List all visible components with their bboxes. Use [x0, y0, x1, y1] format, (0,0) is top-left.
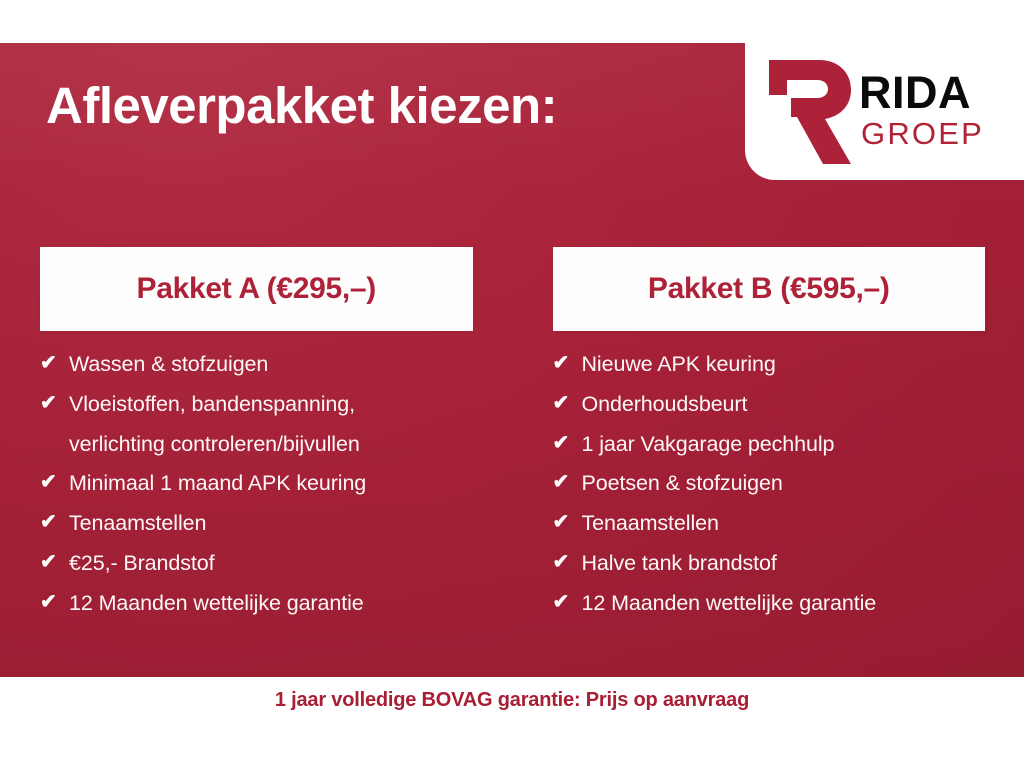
check-icon: ✔ — [553, 504, 582, 541]
list-item-line: €25,- Brandstof — [69, 544, 473, 584]
list-item-label: Minimaal 1 maand APK keuring — [69, 464, 473, 504]
check-icon: ✔ — [40, 385, 69, 422]
list-item-label: Halve tank brandstof — [582, 544, 986, 584]
list-item-label: €25,- Brandstof — [69, 544, 473, 584]
list-item-line: 12 Maanden wettelijke garantie — [69, 584, 473, 624]
red-stage-background: Afleverpakket kiezen: RIDA GROEP Pakket … — [0, 43, 1024, 677]
list-item-line: Vloeistoffen, bandenspanning, — [69, 385, 473, 425]
list-item-line: Poetsen & stofzuigen — [582, 464, 986, 504]
list-item-label: Wassen & stofzuigen — [69, 345, 473, 385]
list-item-line: Tenaamstellen — [582, 504, 986, 544]
list-item: ✔Vloeistoffen, bandenspanning,verlichtin… — [40, 385, 473, 465]
list-item-label: 1 jaar Vakgarage pechhulp — [582, 425, 986, 465]
list-item: ✔12 Maanden wettelijke garantie — [40, 584, 473, 624]
check-icon: ✔ — [553, 425, 582, 462]
package-a-header: Pakket A (€295,–) — [40, 247, 473, 331]
list-item-label: 12 Maanden wettelijke garantie — [582, 584, 986, 624]
list-item-line: Halve tank brandstof — [582, 544, 986, 584]
check-icon: ✔ — [553, 464, 582, 501]
rida-r-monogram-icon — [761, 60, 853, 164]
brand-wordmark: RIDA GROEP — [859, 70, 984, 153]
list-item-label: Poetsen & stofzuigen — [582, 464, 986, 504]
list-item: ✔Wassen & stofzuigen — [40, 345, 473, 385]
package-card-a[interactable]: Pakket A (€295,–) ✔Wassen & stofzuigen✔V… — [40, 247, 473, 623]
list-item: ✔Onderhoudsbeurt — [553, 385, 986, 425]
check-icon: ✔ — [40, 345, 69, 382]
list-item-line: Minimaal 1 maand APK keuring — [69, 464, 473, 504]
check-icon: ✔ — [553, 345, 582, 382]
check-icon: ✔ — [40, 544, 69, 581]
package-b-header: Pakket B (€595,–) — [553, 247, 986, 331]
package-b-feature-list: ✔Nieuwe APK keuring✔Onderhoudsbeurt✔1 ja… — [553, 345, 986, 623]
list-item-line: Wassen & stofzuigen — [69, 345, 473, 385]
check-icon: ✔ — [553, 544, 582, 581]
list-item: ✔Minimaal 1 maand APK keuring — [40, 464, 473, 504]
list-item-line: Nieuwe APK keuring — [582, 345, 986, 385]
check-icon: ✔ — [40, 504, 69, 541]
check-icon: ✔ — [40, 584, 69, 621]
package-a-title: Pakket A (€295,–) — [137, 272, 377, 306]
list-item: ✔12 Maanden wettelijke garantie — [553, 584, 986, 624]
package-a-feature-list: ✔Wassen & stofzuigen✔Vloeistoffen, bande… — [40, 345, 473, 623]
list-item: ✔€25,- Brandstof — [40, 544, 473, 584]
list-item: ✔Tenaamstellen — [553, 504, 986, 544]
list-item-line: verlichting controleren/bijvullen — [69, 425, 473, 465]
footer-bar: 1 jaar volledige BOVAG garantie: Prijs o… — [0, 677, 1024, 768]
list-item: ✔Nieuwe APK keuring — [553, 345, 986, 385]
packages-container: Pakket A (€295,–) ✔Wassen & stofzuigen✔V… — [40, 247, 985, 623]
brand-name-secondary: GROEP — [859, 118, 984, 149]
brand-name-primary: RIDA — [859, 70, 984, 115]
list-item: ✔Halve tank brandstof — [553, 544, 986, 584]
list-item-line: Tenaamstellen — [69, 504, 473, 544]
package-b-title: Pakket B (€595,–) — [648, 272, 890, 306]
list-item-label: Onderhoudsbeurt — [582, 385, 986, 425]
list-item: ✔Poetsen & stofzuigen — [553, 464, 986, 504]
list-item-label: Tenaamstellen — [582, 504, 986, 544]
check-icon: ✔ — [40, 464, 69, 501]
list-item: ✔1 jaar Vakgarage pechhulp — [553, 425, 986, 465]
package-card-b[interactable]: Pakket B (€595,–) ✔Nieuwe APK keuring✔On… — [553, 247, 986, 623]
list-item-label: Vloeistoffen, bandenspanning,verlichting… — [69, 385, 473, 465]
check-icon: ✔ — [553, 584, 582, 621]
slide-root: Afleverpakket kiezen: RIDA GROEP Pakket … — [0, 0, 1024, 768]
page-title: Afleverpakket kiezen: — [46, 79, 557, 133]
list-item-label: Nieuwe APK keuring — [582, 345, 986, 385]
brand-logo-panel: RIDA GROEP — [745, 43, 1024, 180]
check-icon: ✔ — [553, 385, 582, 422]
list-item-line: 12 Maanden wettelijke garantie — [582, 584, 986, 624]
list-item: ✔Tenaamstellen — [40, 504, 473, 544]
list-item-line: 1 jaar Vakgarage pechhulp — [582, 425, 986, 465]
list-item-line: Onderhoudsbeurt — [582, 385, 986, 425]
list-item-label: 12 Maanden wettelijke garantie — [69, 584, 473, 624]
footer-guarantee-text: 1 jaar volledige BOVAG garantie: Prijs o… — [275, 689, 749, 768]
list-item-label: Tenaamstellen — [69, 504, 473, 544]
